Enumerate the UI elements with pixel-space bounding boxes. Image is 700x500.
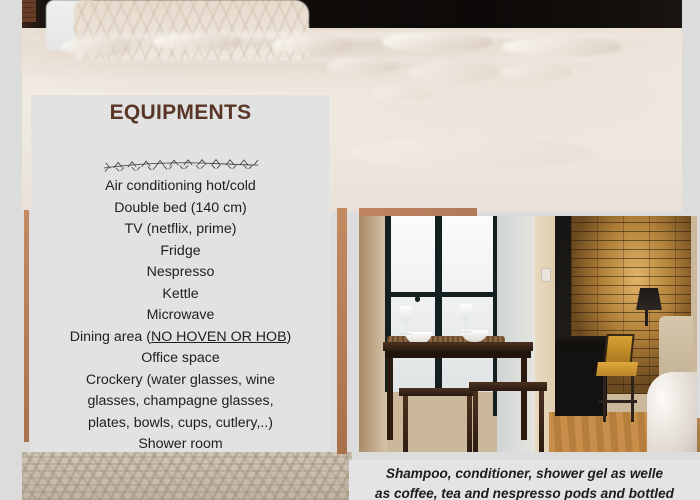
vine-flourish-divider-icon [102,159,260,173]
dining-suffix: ) [287,329,292,345]
desk-body [555,346,607,416]
amenities-caption: Shampoo, conditioner, shower gel as well… [349,460,700,500]
fabric-texture-photo [22,452,352,500]
duvet-tuft [327,58,397,74]
light-switch-icon [541,268,551,282]
list-item-dining-area: Dining area (NO HOVEN OR HOB) [39,327,322,349]
duvet-tuft [152,34,242,50]
stool-leg [403,396,408,460]
list-item: glasses, champagne glasses, [39,391,322,413]
stool-seat [399,388,475,396]
duvet-tuft [272,36,352,54]
right-margin-fill [682,0,700,216]
chair-leg [631,376,634,422]
interior-left-wall [359,216,387,460]
list-item: Air conditioning hot/cold [39,176,322,198]
caption-line-2: as coffee, tea and nespresso pods and bo… [375,484,674,500]
duvet-fold [352,138,592,168]
dining-prefix: Dining area ( [70,329,151,345]
list-item: Crockery (water glasses, wine [39,370,322,392]
stool-leg [467,396,472,460]
list-item: Office space [39,348,322,370]
list-item: Shower room [39,434,322,456]
yellow-chair-seat [596,362,638,376]
list-item: plates, bowls, cups, cutlery,..) [39,413,322,435]
window-latch [415,296,420,302]
stool-leg [539,391,544,460]
wall-lamp-icon [636,288,662,310]
bottom-left-margin-fill [0,452,22,500]
duvet-tuft [502,64,572,80]
dining-area-photo [359,216,697,460]
page-title: EQUIPMENTS [31,101,330,125]
left-margin-fill [0,0,22,452]
interior-window [385,216,499,392]
duvet-tuft [382,32,492,52]
table-leg [387,358,393,440]
window-frame [435,216,442,392]
equipments-card: EQUIPMENTS Air conditioning hot/cold Dou… [31,95,330,451]
chair-leg [603,376,606,422]
accent-strip-top [359,208,477,216]
wall-lamp-arm [645,310,648,326]
stool-leg [473,391,478,460]
console-table-top [383,342,533,351]
caption-line-1: Shampoo, conditioner, shower gel as well… [386,464,663,484]
stool-seat [469,382,547,391]
dining-underlined-note: NO HOVEN OR HOB [151,329,287,345]
duvet-tuft [502,38,622,56]
chair-rung [599,400,637,403]
accent-bar-right [337,208,347,454]
accent-bar-left [24,210,29,442]
bed-corner [647,372,697,460]
list-item: Fridge [39,241,322,263]
list-item: Double bed (140 cm) [39,198,322,220]
table-leg [521,358,527,440]
list-item: Microwave [39,305,322,327]
list-item: Nespresso [39,262,322,284]
duvet-tuft [372,86,432,100]
duvet-tuft [62,38,132,56]
wine-glass-base [460,331,472,333]
console-table-apron [385,351,531,358]
wine-glass-base [400,333,412,335]
list-item: Kettle [39,284,322,306]
duvet-tuft [408,62,498,82]
window-frame [385,292,501,297]
equipments-list: Air conditioning hot/cold Double bed (14… [31,176,330,456]
brick-corner [22,0,36,22]
list-item: TV (netflix, prime) [39,219,322,241]
page-stage: EQUIPMENTS Air conditioning hot/cold Dou… [0,0,700,500]
